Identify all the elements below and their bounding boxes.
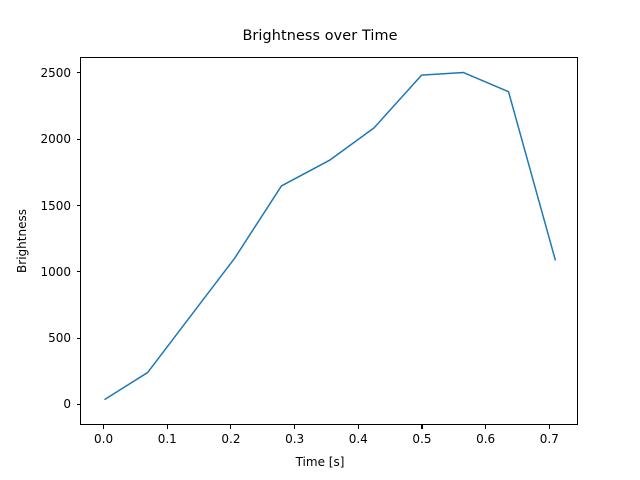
x-tick-mark — [167, 425, 168, 429]
plot-area — [80, 57, 578, 425]
line-series — [104, 73, 555, 400]
x-tick-label: 0.5 — [412, 432, 431, 446]
x-tick-label: 0.1 — [158, 432, 177, 446]
x-tick-mark — [230, 425, 231, 429]
x-tick-mark — [294, 425, 295, 429]
x-tick-label: 0.6 — [476, 432, 495, 446]
y-tick-label: 0 — [0, 397, 71, 411]
x-tick-label: 0.4 — [349, 432, 368, 446]
x-tick-mark — [549, 425, 550, 429]
chart-title: Brightness over Time — [0, 28, 640, 44]
y-axis-label: Brightness — [15, 209, 29, 273]
series-group — [104, 73, 555, 400]
y-tick-label: 500 — [0, 331, 71, 345]
x-tick-mark — [485, 425, 486, 429]
x-tick-label: 0.2 — [221, 432, 240, 446]
y-tick-label: 2500 — [0, 66, 71, 80]
y-tick-label: 2000 — [0, 132, 71, 146]
x-tick-label: 0.3 — [285, 432, 304, 446]
x-tick-mark — [421, 425, 422, 429]
y-tick-label: 1500 — [0, 199, 71, 213]
x-tick-label: 0.7 — [540, 432, 559, 446]
x-tick-mark — [103, 425, 104, 429]
y-tick-label: 1000 — [0, 265, 71, 279]
x-tick-mark — [358, 425, 359, 429]
data-series-svg — [81, 58, 577, 424]
x-axis-label: Time [s] — [0, 455, 640, 469]
x-tick-label: 0.0 — [94, 432, 113, 446]
matplotlib-figure: Brightness over Time Brightness Time [s]… — [0, 0, 640, 480]
